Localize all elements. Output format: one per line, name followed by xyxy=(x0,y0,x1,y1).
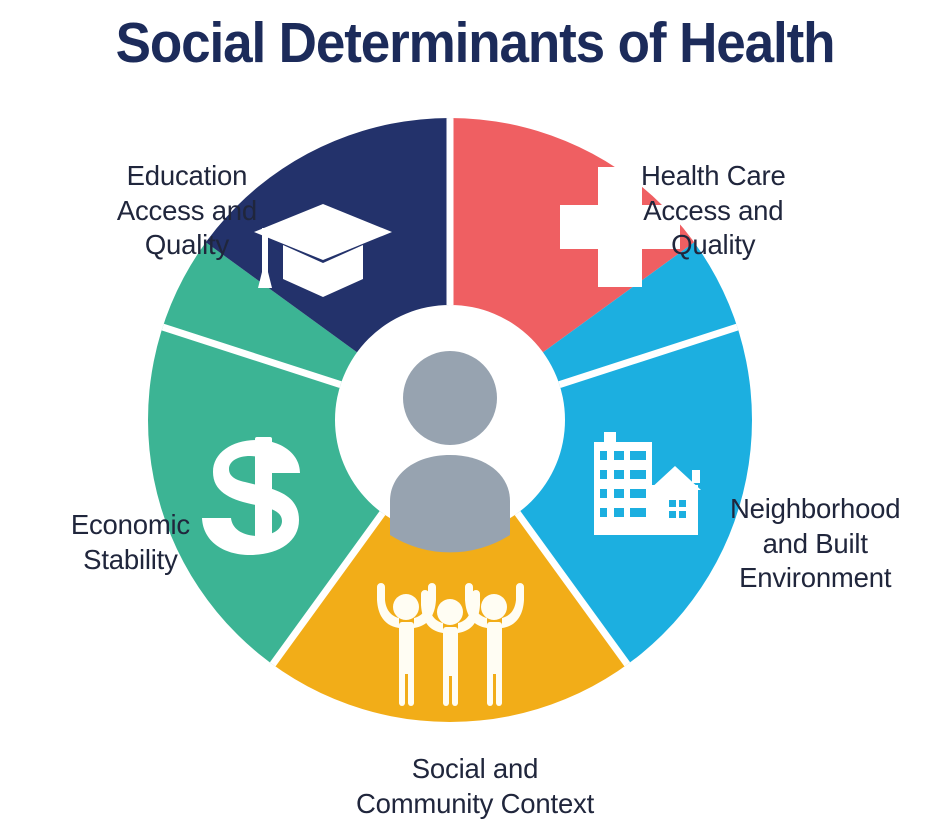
label-neighborhood-line-3: Environment xyxy=(730,561,900,596)
wheel-svg xyxy=(0,0,950,840)
label-health-care-line-1: Health Care xyxy=(641,159,786,194)
label-education-line-2: Access and xyxy=(117,194,257,229)
label-health-care-line-3: Quality xyxy=(641,228,786,263)
label-neighborhood: Neighborhood and Built Environment xyxy=(730,492,900,596)
label-social-community-line-2: Community Context xyxy=(0,787,950,822)
label-economic-stability-line-2: Stability xyxy=(71,543,190,578)
label-social-community: Social and Community Context xyxy=(0,752,950,821)
label-neighborhood-line-1: Neighborhood xyxy=(730,492,900,527)
label-education-line-1: Education xyxy=(117,159,257,194)
label-health-care-line-2: Access and xyxy=(641,194,786,229)
sdoh-wheel-diagram: Education Access and Quality Health Care… xyxy=(0,0,950,840)
label-economic-stability-line-1: Economic xyxy=(71,508,190,543)
label-health-care: Health Care Access and Quality xyxy=(641,159,786,263)
label-neighborhood-line-2: and Built xyxy=(730,527,900,562)
label-economic-stability: Economic Stability xyxy=(71,508,190,577)
label-education-line-3: Quality xyxy=(117,228,257,263)
label-social-community-line-1: Social and xyxy=(0,752,950,787)
label-education: Education Access and Quality xyxy=(117,159,257,263)
